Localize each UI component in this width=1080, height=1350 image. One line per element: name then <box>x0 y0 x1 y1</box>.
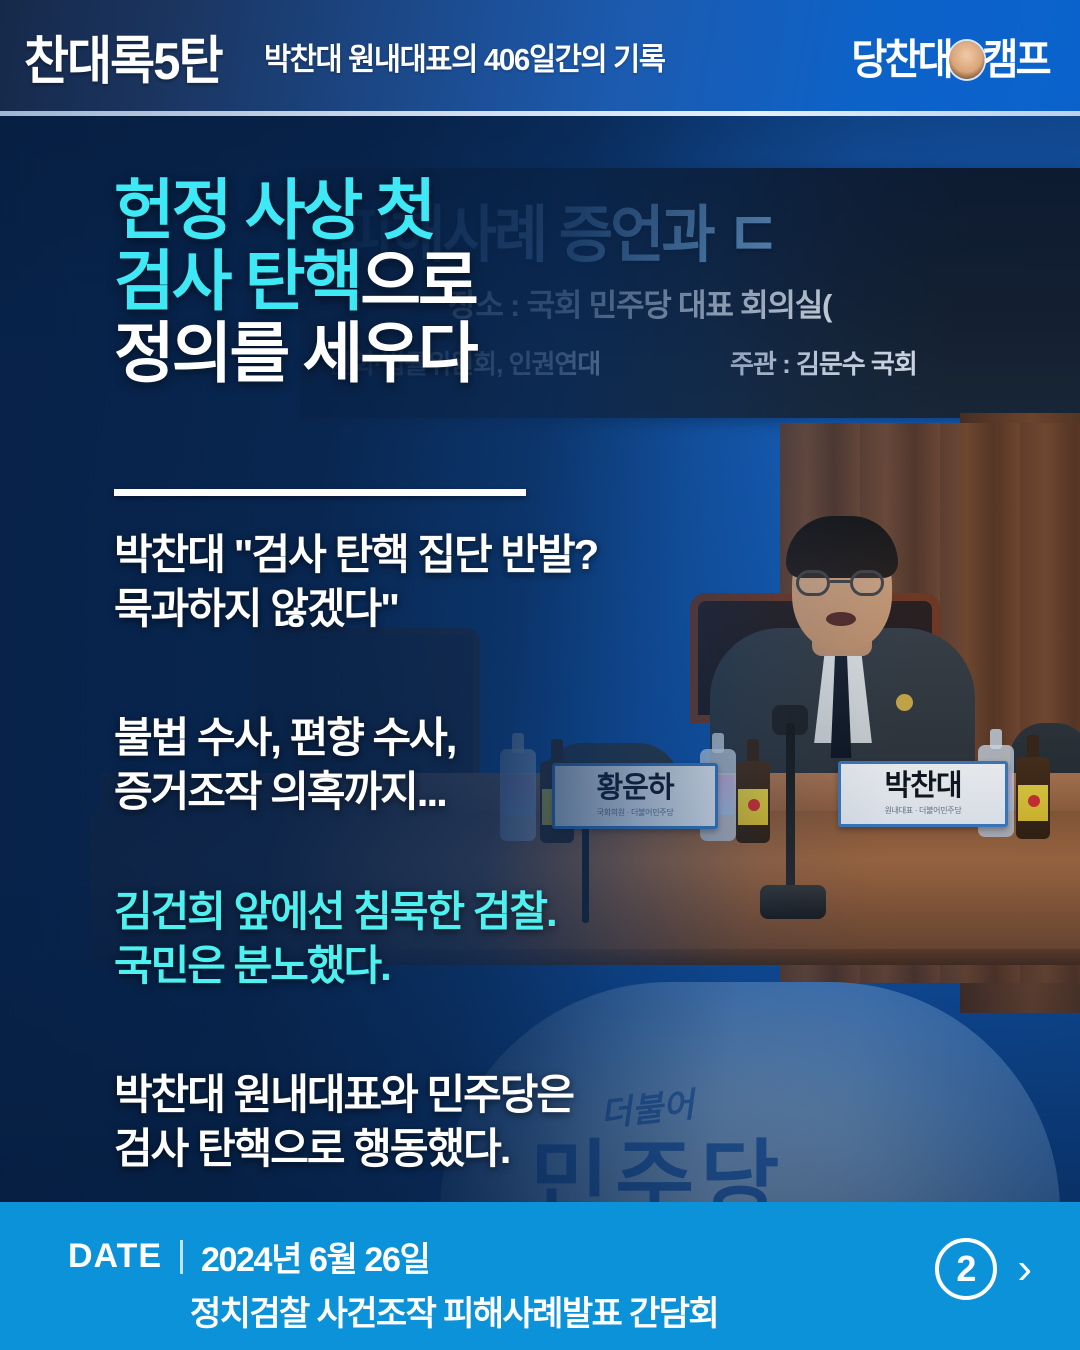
slide-content: 헌정 사상 첫 검사 탄핵으로 정의를 세우다 박찬대 "검사 탄핵 집단 반발… <box>0 113 1080 1202</box>
para2-line-2: 증거조작 의혹까지... <box>114 765 734 819</box>
footer-event-title: 정치검찰 사건조작 피해사례발표 간담회 <box>190 1286 718 1335</box>
page-number-badge[interactable]: 2 <box>935 1238 997 1300</box>
body-paragraph-1: 박찬대 "검사 탄핵 집단 반발? 묵과하지 않겠다" <box>114 528 734 636</box>
para3-line-2: 국민은 분노했다. <box>114 939 734 993</box>
series-title: 찬대록5탄 <box>24 19 222 94</box>
headline-line-2-highlight: 검사 탄핵 <box>114 244 360 318</box>
camp-logo[interactable]: 당찬대 캠프 <box>851 26 1048 87</box>
footer-date-row: DATE 2024년 6월 26일 <box>68 1232 429 1281</box>
headline-line-2-rest: 으로 <box>360 244 475 318</box>
header-bar: 찬대록5탄 박찬대 원내대표의 406일간의 기록 당찬대 캠프 <box>0 0 1080 113</box>
date-label: DATE <box>68 1237 162 1276</box>
para3-line-1: 김건희 앞에선 침묵한 검찰. <box>114 885 734 939</box>
para1-line-1: 박찬대 "검사 탄핵 집단 반발? <box>114 528 734 582</box>
camp-logo-text-2: 캠프 <box>982 26 1048 87</box>
para1-line-2: 묵과하지 않겠다" <box>114 582 734 636</box>
body-paragraph-3: 김건희 앞에선 침묵한 검찰. 국민은 분노했다. <box>114 885 734 993</box>
body-paragraph-4: 박찬대 원내대표와 민주당은 검사 탄핵으로 행동했다. <box>114 1068 734 1176</box>
date-value: 2024년 6월 26일 <box>201 1232 429 1281</box>
card-news-slide: 찬대록5탄 박찬대 원내대표의 406일간의 기록 당찬대 캠프 피해사례 증언… <box>0 0 1080 1350</box>
body-paragraph-2: 불법 수사, 편향 수사, 증거조작 의혹까지... <box>114 711 734 819</box>
footer-pagination[interactable]: 2 › <box>935 1238 1032 1300</box>
para4-line-1: 박찬대 원내대표와 민주당은 <box>114 1068 734 1122</box>
headline-line-2: 검사 탄핵으로 <box>114 246 754 317</box>
headline-line-1: 헌정 사상 첫 <box>114 175 754 246</box>
chevron-right-icon[interactable]: › <box>1017 1247 1032 1291</box>
headline-divider <box>114 489 526 496</box>
date-separator <box>180 1240 183 1274</box>
headline: 헌정 사상 첫 검사 탄핵으로 정의를 세우다 <box>114 175 754 389</box>
camp-logo-text-1: 당찬대 <box>851 26 950 87</box>
para4-line-2: 검사 탄핵으로 행동했다. <box>114 1122 734 1176</box>
para2-line-1: 불법 수사, 편향 수사, <box>114 711 734 765</box>
header-divider <box>0 111 1080 116</box>
series-subtitle: 박찬대 원내대표의 406일간의 기록 <box>264 34 665 79</box>
footer-bar: DATE 2024년 6월 26일 정치검찰 사건조작 피해사례발표 간담회 2… <box>0 1202 1080 1350</box>
headline-line-3: 정의를 세우다 <box>114 318 754 389</box>
portrait-face-icon <box>949 41 984 79</box>
